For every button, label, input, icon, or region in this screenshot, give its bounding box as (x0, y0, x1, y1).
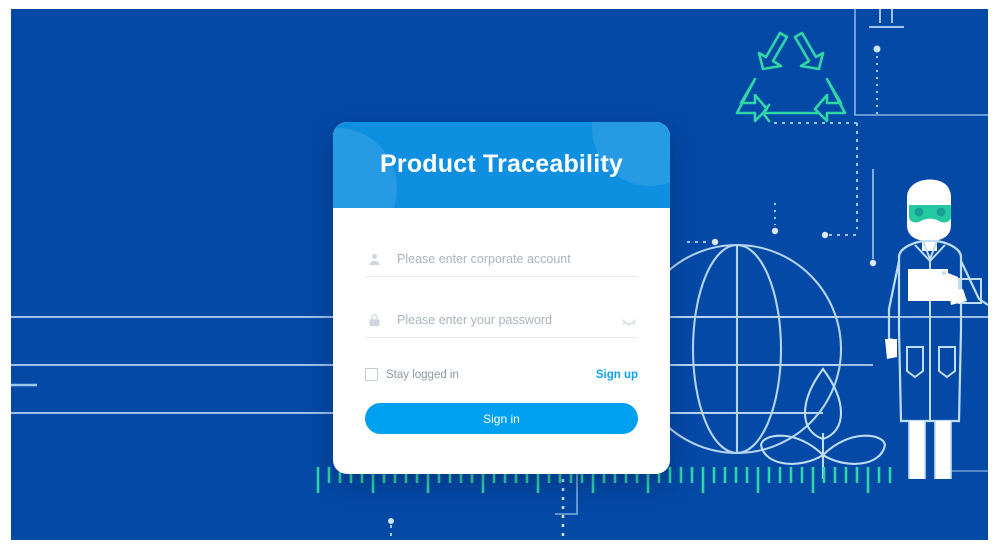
user-icon (365, 250, 383, 268)
password-field-row (365, 303, 638, 338)
signin-button[interactable]: Sign in (365, 403, 638, 434)
screenshot-frame: Product Traceability (0, 0, 998, 551)
sprout-leaves (761, 369, 885, 479)
checkbox-box[interactable] (365, 368, 378, 381)
stay-logged-in-label: Stay logged in (386, 369, 459, 381)
lab-technician-figure (885, 180, 988, 480)
login-page: Product Traceability (11, 9, 988, 540)
page-title: Product Traceability (333, 150, 670, 179)
password-input[interactable] (383, 313, 620, 327)
account-field-row (365, 242, 638, 277)
stay-logged-in-checkbox[interactable]: Stay logged in (365, 368, 459, 381)
login-card: Product Traceability (333, 122, 670, 474)
account-input[interactable] (383, 252, 638, 266)
recycle-icon (737, 33, 845, 121)
card-header: Product Traceability (333, 122, 670, 208)
eye-closed-icon[interactable] (620, 311, 638, 329)
options-row: Stay logged in Sign up (365, 368, 638, 381)
signup-link[interactable]: Sign up (596, 369, 638, 381)
lock-icon (365, 311, 383, 329)
card-body: Stay logged in Sign up Sign in (333, 208, 670, 434)
